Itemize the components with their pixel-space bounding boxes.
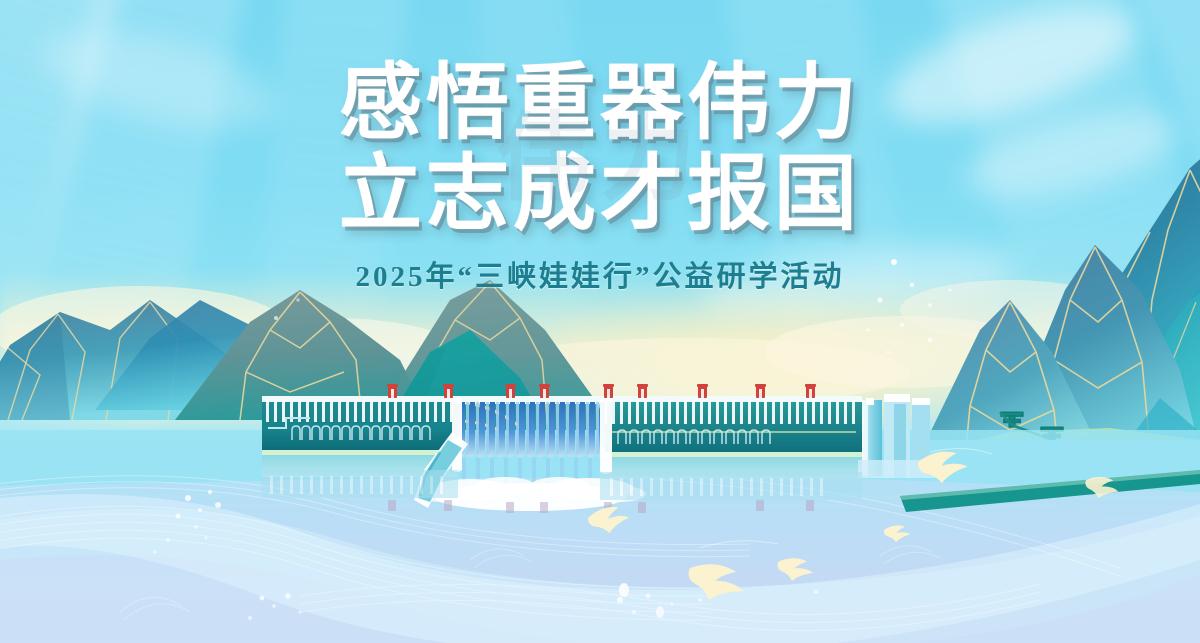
dam-right-section bbox=[600, 396, 862, 479]
scene-illustration bbox=[0, 0, 1200, 643]
three-gorges-dam bbox=[262, 384, 936, 513]
banner-root: 伟力 感悟重器伟力 立志成才报国 2025年“三峡娃娃行”公益研学活动 bbox=[0, 0, 1200, 643]
